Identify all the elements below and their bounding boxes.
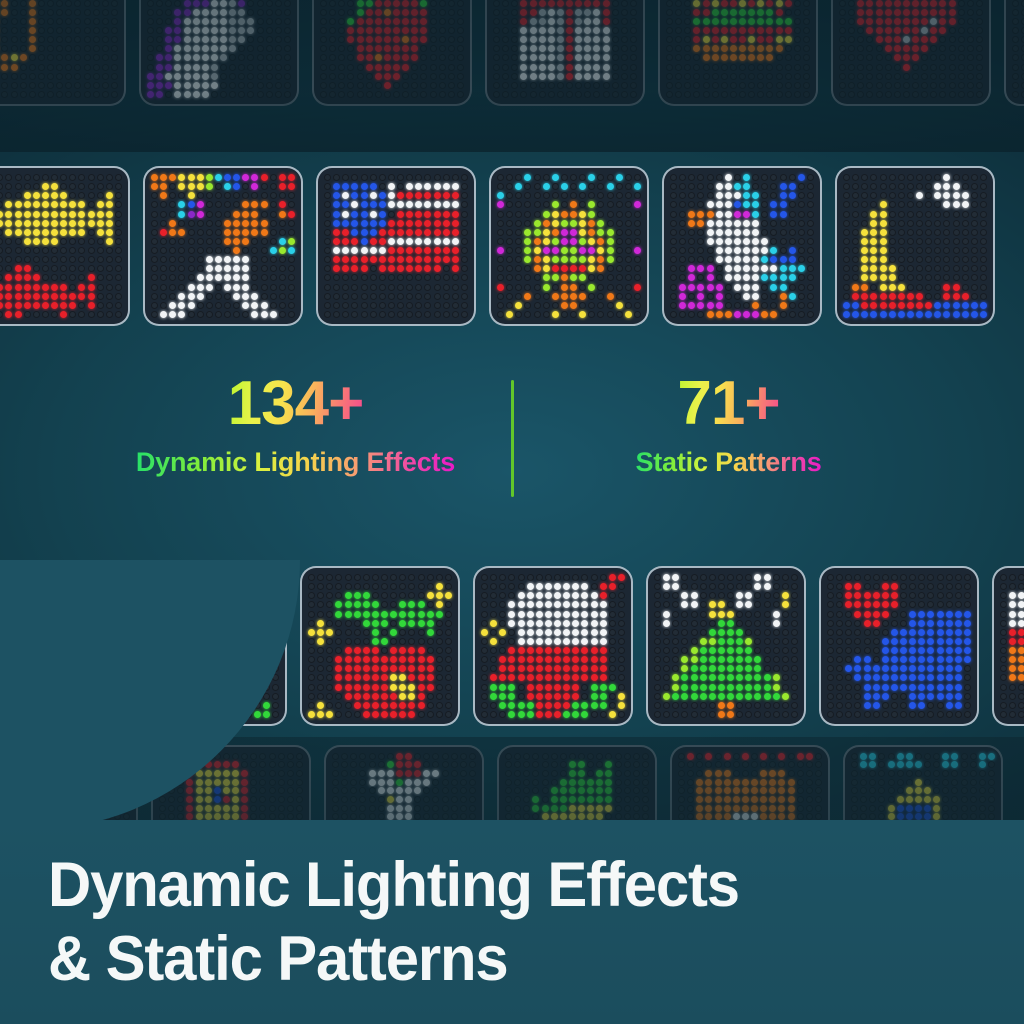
led-dot	[224, 238, 231, 245]
led-dot	[190, 711, 197, 718]
pattern-tile-gift[interactable]	[485, 0, 645, 106]
led-dot	[188, 293, 195, 300]
led-dot	[361, 284, 368, 291]
led-dot	[563, 693, 570, 700]
led-dot	[181, 638, 188, 645]
led-dot	[457, 45, 464, 52]
led-dot	[625, 183, 632, 190]
led-dot	[745, 647, 752, 654]
led-dot	[115, 192, 122, 199]
led-dot	[925, 174, 932, 181]
led-dot	[245, 611, 252, 618]
led-dot	[345, 638, 352, 645]
led-dot	[721, 0, 728, 7]
led-dot	[279, 311, 286, 318]
led-dot	[880, 183, 887, 190]
led-dot	[907, 238, 914, 245]
led-dot	[937, 711, 944, 718]
led-dot	[607, 229, 614, 236]
led-dot	[570, 284, 577, 291]
led-dot	[238, 73, 245, 80]
led-dot	[481, 638, 488, 645]
led-dot	[600, 620, 607, 627]
led-dot	[288, 192, 295, 199]
led-dot	[88, 311, 95, 318]
led-dot	[873, 684, 880, 691]
led-dot	[603, 54, 610, 61]
led-dot	[379, 192, 386, 199]
led-dot	[882, 665, 889, 672]
led-dot	[345, 583, 352, 590]
led-dot	[625, 302, 632, 309]
pattern-tile-burger[interactable]	[658, 0, 818, 106]
led-dot	[233, 265, 240, 272]
led-dot	[178, 201, 185, 208]
led-dot	[563, 601, 570, 608]
pattern-tile-heart[interactable]	[831, 0, 991, 106]
led-dot	[144, 638, 151, 645]
led-dot	[621, 36, 628, 43]
led-dot	[363, 674, 370, 681]
led-dot	[900, 611, 907, 618]
led-dot	[372, 656, 379, 663]
led-dot	[434, 192, 441, 199]
led-dot	[679, 284, 686, 291]
led-dot	[618, 611, 625, 618]
led-dot	[226, 583, 233, 590]
led-dot	[536, 629, 543, 636]
led-dot	[193, 9, 200, 16]
led-dot	[324, 256, 331, 263]
led-dot	[807, 284, 814, 291]
led-dot	[245, 656, 252, 663]
pattern-tile-astronaut[interactable]	[143, 166, 303, 326]
led-dot	[939, 54, 946, 61]
led-dot	[445, 674, 452, 681]
led-dot	[51, 201, 58, 208]
led-dot	[927, 674, 934, 681]
led-dot	[607, 284, 614, 291]
led-dot	[270, 265, 277, 272]
led-dot	[345, 693, 352, 700]
pattern-tile-lighthouse[interactable]	[835, 166, 995, 326]
led-dot	[226, 629, 233, 636]
led-dot	[670, 311, 677, 318]
led-dot	[621, 18, 628, 25]
led-dot	[208, 601, 215, 608]
led-dot	[406, 256, 413, 263]
pattern-tile-fireworks[interactable]	[489, 166, 649, 326]
led-dot	[99, 601, 106, 608]
led-dot	[508, 620, 515, 627]
led-dot	[60, 238, 67, 245]
led-dot	[712, 27, 719, 34]
led-dot	[734, 302, 741, 309]
led-dot	[597, 174, 604, 181]
led-dot	[226, 711, 233, 718]
led-grid	[491, 168, 647, 324]
led-dot	[946, 656, 953, 663]
led-dot	[144, 592, 151, 599]
led-dot	[56, 9, 63, 16]
led-dot	[697, 201, 704, 208]
led-dot	[773, 647, 780, 654]
led-dot	[508, 674, 515, 681]
led-dot	[15, 174, 22, 181]
led-dot	[69, 183, 76, 190]
led-dot	[736, 620, 743, 627]
led-dot	[162, 611, 169, 618]
led-dot	[794, 73, 801, 80]
led-dot	[630, 27, 637, 34]
led-dot	[927, 693, 934, 700]
led-dot	[712, 64, 719, 71]
led-dot	[388, 247, 395, 254]
led-dot	[782, 656, 789, 663]
led-dot	[308, 574, 315, 581]
led-dot	[730, 64, 737, 71]
led-dot	[854, 611, 861, 618]
led-dot	[700, 665, 707, 672]
led-dot	[976, 27, 983, 34]
led-dot	[17, 629, 24, 636]
led-dot	[0, 293, 3, 300]
led-dot	[1012, 9, 1019, 16]
pattern-tile-apple-cherry[interactable]	[300, 566, 460, 726]
led-dot	[434, 293, 441, 300]
led-dot	[62, 638, 69, 645]
pattern-tile-elephant[interactable]	[819, 566, 979, 726]
led-dot	[520, 9, 527, 16]
led-dot	[900, 647, 907, 654]
led-dot	[612, 73, 619, 80]
led-dot	[320, 91, 327, 98]
led-dot	[785, 9, 792, 16]
led-dot	[891, 693, 898, 700]
led-dot	[51, 220, 58, 227]
led-dot	[342, 229, 349, 236]
led-dot	[351, 174, 358, 181]
led-dot	[688, 183, 695, 190]
led-dot	[115, 293, 122, 300]
led-dot	[743, 293, 750, 300]
led-dot	[766, 64, 773, 71]
led-dot	[621, 9, 628, 16]
led-dot	[162, 574, 169, 581]
pattern-tile-letter[interactable]	[0, 0, 126, 106]
led-dot	[233, 211, 240, 218]
led-dot	[894, 0, 901, 7]
led-dot	[415, 238, 422, 245]
led-dot	[543, 247, 550, 254]
pattern-tile-unicorn-blue[interactable]	[662, 166, 822, 326]
led-dot	[415, 284, 422, 291]
led-dot	[612, 27, 619, 34]
led-dot	[381, 665, 388, 672]
led-dot	[224, 284, 231, 291]
led-dot	[411, 9, 418, 16]
led-dot	[74, 64, 81, 71]
led-dot	[144, 693, 151, 700]
led-dot	[958, 9, 965, 16]
led-dot	[493, 64, 500, 71]
led-dot	[845, 693, 852, 700]
led-dot	[111, 73, 118, 80]
led-dot	[20, 82, 27, 89]
led-dot	[430, 64, 437, 71]
led-dot	[697, 220, 704, 227]
led-dot	[761, 238, 768, 245]
led-dot	[670, 274, 677, 281]
led-dot	[174, 54, 181, 61]
led-dot	[390, 601, 397, 608]
led-dot	[709, 684, 716, 691]
led-dot	[971, 201, 978, 208]
led-dot	[625, 229, 632, 236]
led-dot	[215, 284, 222, 291]
led-dot	[518, 684, 525, 691]
led-dot	[684, 82, 691, 89]
led-dot	[843, 183, 850, 190]
led-dot	[217, 583, 224, 590]
led-dot	[427, 601, 434, 608]
led-dot	[8, 583, 15, 590]
led-dot	[782, 620, 789, 627]
led-dot	[333, 192, 340, 199]
led-dot	[427, 665, 434, 672]
led-dot	[563, 583, 570, 590]
led-dot	[197, 201, 204, 208]
led-dot	[399, 611, 406, 618]
led-dot	[211, 45, 218, 52]
led-dot	[65, 18, 72, 25]
pattern-tile-strawberry[interactable]	[312, 0, 472, 106]
led-dot	[111, 91, 118, 98]
led-dot	[663, 702, 670, 709]
led-dot	[921, 54, 928, 61]
led-dot	[506, 220, 513, 227]
led-dot	[88, 201, 95, 208]
pattern-tile-dinosaur[interactable]	[127, 566, 287, 726]
led-dot	[930, 18, 937, 25]
led-dot	[588, 201, 595, 208]
led-dot	[448, 0, 455, 7]
led-dot	[937, 583, 944, 590]
led-dot	[172, 629, 179, 636]
led-dot	[545, 638, 552, 645]
led-dot	[870, 174, 877, 181]
led-dot	[752, 220, 759, 227]
led-dot	[379, 211, 386, 218]
led-dot	[916, 311, 923, 318]
pattern-tile-usa-flag[interactable]	[316, 166, 476, 326]
led-dot	[743, 284, 750, 291]
led-dot	[666, 45, 673, 52]
led-dot	[402, 18, 409, 25]
led-dot	[579, 284, 586, 291]
led-dot	[347, 64, 354, 71]
led-dot	[372, 592, 379, 599]
led-dot	[338, 9, 345, 16]
led-dot	[74, 91, 81, 98]
led-dot	[976, 82, 983, 89]
led-dot	[169, 293, 176, 300]
led-dot	[178, 302, 185, 309]
led-dot	[270, 274, 277, 281]
led-dot	[11, 18, 18, 25]
led-dot	[324, 274, 331, 281]
led-dot	[600, 674, 607, 681]
led-dot	[345, 611, 352, 618]
led-dot	[718, 702, 725, 709]
led-dot	[707, 192, 714, 199]
led-dot	[764, 629, 771, 636]
led-dot	[885, 18, 892, 25]
led-dot	[279, 220, 286, 227]
led-dot	[603, 73, 610, 80]
led-dot	[445, 611, 452, 618]
led-dot	[88, 293, 95, 300]
led-dot	[688, 284, 695, 291]
led-dot	[226, 665, 233, 672]
led-dot	[770, 174, 777, 181]
led-dot	[420, 9, 427, 16]
led-dot	[563, 665, 570, 672]
led-dot	[263, 656, 270, 663]
led-dot	[427, 629, 434, 636]
led-dot	[539, 27, 546, 34]
led-dot	[20, 9, 27, 16]
led-dot	[766, 0, 773, 7]
led-dot	[172, 684, 179, 691]
led-dot	[224, 220, 231, 227]
led-dot	[561, 238, 568, 245]
led-dot	[745, 611, 752, 618]
led-dot	[33, 238, 40, 245]
led-dot	[47, 54, 54, 61]
pattern-tile-santa[interactable]	[473, 566, 633, 726]
led-dot	[691, 601, 698, 608]
led-dot	[861, 293, 868, 300]
led-dot	[964, 702, 971, 709]
led-dot	[745, 711, 752, 718]
led-dot	[691, 711, 698, 718]
led-dot	[971, 183, 978, 190]
led-dot	[151, 302, 158, 309]
led-dot	[566, 18, 573, 25]
led-dot	[570, 192, 577, 199]
led-dot	[493, 27, 500, 34]
led-dot	[193, 64, 200, 71]
led-dot	[363, 638, 370, 645]
led-dot	[388, 284, 395, 291]
pattern-tile-partial[interactable]	[1004, 0, 1024, 106]
led-grid	[664, 168, 820, 324]
led-dot	[754, 611, 761, 618]
led-dot	[967, 9, 974, 16]
led-dot	[411, 82, 418, 89]
led-dot	[211, 27, 218, 34]
led-dot	[17, 656, 24, 663]
led-dot	[44, 656, 51, 663]
led-dot	[217, 647, 224, 654]
led-dot	[8, 693, 15, 700]
led-dot	[616, 274, 623, 281]
led-dot	[782, 629, 789, 636]
led-dot	[499, 656, 506, 663]
led-dot	[238, 27, 245, 34]
led-dot	[885, 64, 892, 71]
led-dot	[539, 36, 546, 43]
led-dot	[761, 174, 768, 181]
led-dot	[675, 18, 682, 25]
led-dot	[739, 0, 746, 7]
pattern-tile-christmas-tree[interactable]	[646, 566, 806, 726]
led-dot	[518, 711, 525, 718]
led-dot	[38, 0, 45, 7]
led-dot	[436, 656, 443, 663]
led-dot	[803, 9, 810, 16]
led-dot	[90, 574, 97, 581]
led-dot	[135, 601, 142, 608]
led-dot	[903, 36, 910, 43]
led-dot	[62, 647, 69, 654]
led-dot	[798, 220, 805, 227]
led-dot	[97, 201, 104, 208]
led-dot	[909, 574, 916, 581]
led-dot	[178, 256, 185, 263]
led-dot	[99, 693, 106, 700]
led-dot	[666, 73, 673, 80]
led-dot	[354, 638, 361, 645]
led-dot	[927, 665, 934, 672]
led-dot	[178, 211, 185, 218]
led-dot	[852, 174, 859, 181]
led-dot	[727, 592, 734, 599]
led-dot	[99, 665, 106, 672]
led-dot	[370, 293, 377, 300]
led-dot	[891, 702, 898, 709]
led-dot	[927, 647, 934, 654]
pattern-tile-two-fish[interactable]	[0, 166, 130, 326]
led-dot	[206, 265, 213, 272]
led-dot	[393, 36, 400, 43]
led-dot	[220, 36, 227, 43]
led-dot	[308, 656, 315, 663]
pattern-tile-unicorn[interactable]	[139, 0, 299, 106]
led-dot	[891, 601, 898, 608]
led-dot	[151, 220, 158, 227]
led-dot	[26, 620, 33, 627]
led-dot	[229, 91, 236, 98]
led-dot	[497, 174, 504, 181]
pattern-tile-edge-right[interactable]	[992, 566, 1024, 726]
led-dot	[190, 665, 197, 672]
led-dot	[208, 656, 215, 663]
led-dot	[357, 64, 364, 71]
pattern-tile-edge-left[interactable]	[0, 566, 114, 726]
led-dot	[490, 674, 497, 681]
led-dot	[581, 601, 588, 608]
led-dot	[448, 9, 455, 16]
led-dot	[864, 601, 871, 608]
led-dot	[288, 274, 295, 281]
led-dot	[789, 293, 796, 300]
led-dot	[707, 247, 714, 254]
led-dot	[518, 665, 525, 672]
led-dot	[876, 73, 883, 80]
led-dot	[106, 238, 113, 245]
